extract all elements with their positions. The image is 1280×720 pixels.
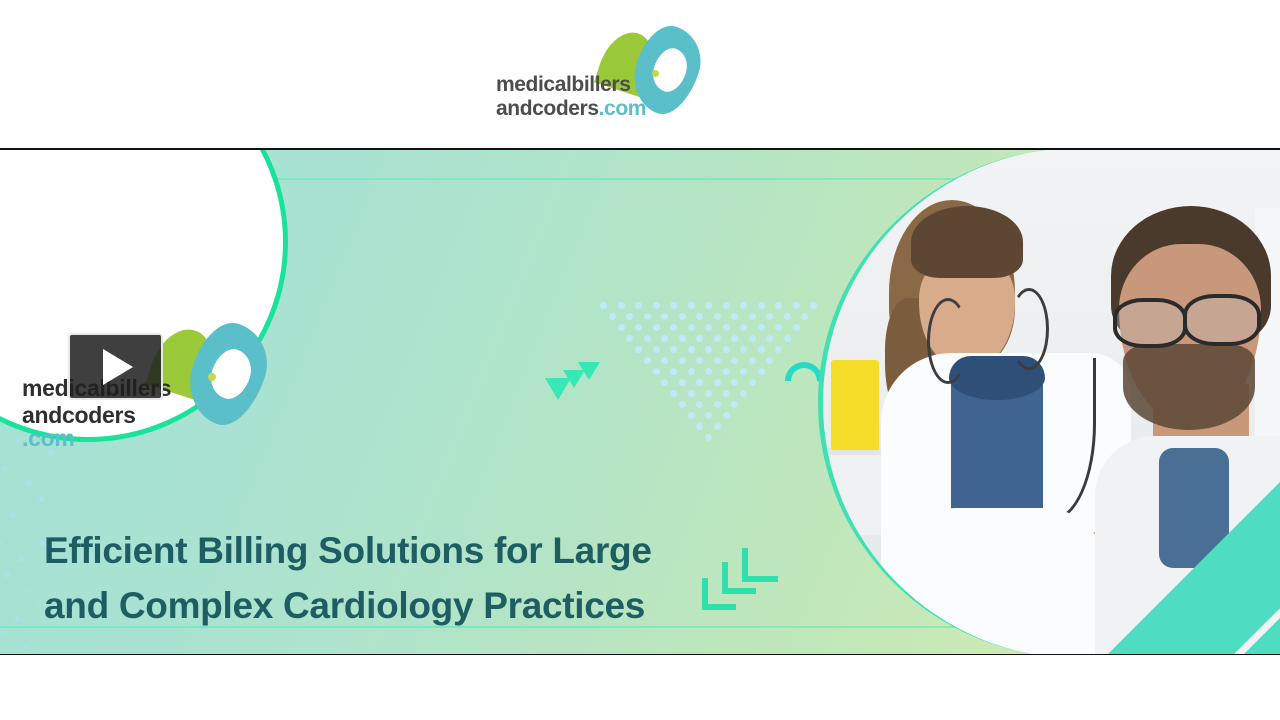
banner-logo-line-2-dark: andcoders	[22, 404, 197, 427]
decor-dot	[2, 466, 8, 472]
decor-dot	[618, 302, 625, 309]
photo-patient-inner	[1159, 448, 1229, 568]
decor-dot	[758, 324, 765, 331]
banner-logo-line-2: andcoders.com	[22, 404, 197, 450]
photo-doctor-sleeve	[915, 508, 1105, 655]
decor-dot	[766, 357, 773, 364]
decor-dot	[0, 540, 2, 546]
logo-line-2-dark: andcoders	[496, 97, 599, 120]
video-play-button[interactable]	[68, 333, 163, 400]
decor-dot	[723, 390, 730, 397]
decor-dot	[670, 346, 677, 353]
decor-dot	[740, 346, 747, 353]
decor-dot	[705, 412, 712, 419]
decor-dot	[600, 302, 607, 309]
decor-dot	[696, 335, 703, 342]
decor-dot	[775, 346, 782, 353]
decor-dot	[723, 412, 730, 419]
decor-dot	[749, 335, 756, 342]
decor-dot	[731, 357, 738, 364]
headline-line-1: Efficient Billing Solutions for Large	[44, 524, 774, 579]
decor-dot	[670, 368, 677, 375]
decor-dot	[784, 313, 791, 320]
decor-dot	[688, 302, 695, 309]
decor-triangle-3	[578, 362, 600, 380]
decor-dot	[670, 324, 677, 331]
decor-dot	[714, 401, 721, 408]
photo-circle-mask	[818, 150, 1280, 655]
decor-dot	[679, 357, 686, 364]
photo-patient-beard	[1123, 344, 1255, 430]
decor-dot	[705, 324, 712, 331]
hero-banner: medicalbillers andcoders.com Efficient B…	[0, 149, 1280, 655]
decor-dot	[705, 390, 712, 397]
decor-dot	[810, 302, 817, 309]
decor-dot	[688, 390, 695, 397]
decor-dot	[731, 401, 738, 408]
decor-dot	[758, 302, 765, 309]
decor-dot	[626, 335, 633, 342]
decor-dot	[661, 379, 668, 386]
decor-dot	[609, 313, 616, 320]
decor-dot	[740, 368, 747, 375]
decor-dot	[626, 313, 633, 320]
decor-dot	[635, 302, 642, 309]
hero-headline: Efficient Billing Solutions for Large an…	[44, 524, 774, 634]
decor-dot	[688, 412, 695, 419]
decor-dot	[635, 324, 642, 331]
logo-line-1: medicalbillers	[496, 74, 646, 95]
logo-line-2-accent: .com	[599, 97, 646, 120]
decor-dot	[688, 324, 695, 331]
decor-dot	[696, 357, 703, 364]
photo-stethoscope-left	[927, 298, 969, 384]
decor-dot	[38, 496, 44, 502]
decor-dot	[688, 346, 695, 353]
decor-dot	[714, 335, 721, 342]
decor-dot	[793, 302, 800, 309]
decor-dot	[653, 368, 660, 375]
logo-wordmark: medicalbillers andcoders.com	[496, 74, 646, 119]
decor-dot	[696, 313, 703, 320]
decor-dot	[775, 302, 782, 309]
decor-dot	[688, 368, 695, 375]
decor-dot	[18, 556, 24, 562]
decor-dot	[731, 335, 738, 342]
photo-doctor-fringe	[911, 206, 1023, 278]
decor-dot	[644, 335, 651, 342]
decor-dot	[661, 313, 668, 320]
decor-dot	[723, 368, 730, 375]
decor-dot	[4, 572, 10, 578]
decor-dot	[679, 401, 686, 408]
decor-dot	[705, 368, 712, 375]
decor-dot	[740, 324, 747, 331]
decor-dot	[714, 379, 721, 386]
decor-dot	[22, 644, 28, 650]
decor-dot	[679, 379, 686, 386]
decor-dot	[653, 346, 660, 353]
decor-dot	[696, 401, 703, 408]
decor-dot	[10, 512, 16, 518]
headline-line-2: and Complex Cardiology Practices	[44, 579, 774, 634]
decor-dot	[766, 313, 773, 320]
banner-logo-line-2-accent: .com	[22, 427, 197, 450]
page-bottom-area	[0, 656, 1280, 720]
decor-dot	[679, 313, 686, 320]
decor-dot	[793, 324, 800, 331]
photo-yellow-bin	[831, 360, 879, 450]
decor-dot	[0, 630, 6, 636]
decor-dot	[758, 346, 765, 353]
decor-dot	[705, 346, 712, 353]
decor-dot	[696, 379, 703, 386]
decor-dot	[801, 313, 808, 320]
decor-dot	[644, 357, 651, 364]
decor-dot	[26, 588, 32, 594]
decor-dot	[731, 313, 738, 320]
decor-dot	[766, 335, 773, 342]
decor-dot	[705, 434, 712, 441]
decor-dot	[670, 302, 677, 309]
decor-dot	[740, 302, 747, 309]
decor-dot	[635, 346, 642, 353]
play-icon	[103, 349, 133, 385]
hero-photo	[818, 150, 1280, 655]
decor-dot	[644, 313, 651, 320]
photo-patient-glasses-left	[1113, 298, 1187, 348]
decor-dot	[36, 600, 42, 606]
decor-dot	[653, 324, 660, 331]
decor-dot	[26, 480, 32, 486]
decor-dot	[723, 346, 730, 353]
decor-dot	[679, 335, 686, 342]
decor-dot	[618, 324, 625, 331]
logo-line-2: andcoders.com	[496, 98, 646, 119]
decor-dot	[714, 423, 721, 430]
site-logo[interactable]: medicalbillers andcoders.com	[496, 26, 696, 122]
decor-dot	[723, 324, 730, 331]
decor-dot	[670, 390, 677, 397]
decor-dot	[661, 357, 668, 364]
decor-dot	[705, 302, 712, 309]
photo-patient-glasses-right	[1183, 294, 1261, 346]
decor-dot	[714, 313, 721, 320]
decor-dot	[661, 335, 668, 342]
decor-dot	[749, 357, 756, 364]
decor-dot	[740, 390, 747, 397]
decor-dot	[749, 379, 756, 386]
decor-dot	[653, 302, 660, 309]
decor-dot	[14, 616, 20, 622]
decor-dot	[775, 324, 782, 331]
top-logo-bar: medicalbillers andcoders.com	[0, 0, 1280, 149]
decor-dot	[749, 313, 756, 320]
decor-dot	[758, 368, 765, 375]
decor-dot	[696, 423, 703, 430]
decor-dot	[731, 379, 738, 386]
decor-dot	[784, 335, 791, 342]
decor-dot	[714, 357, 721, 364]
decor-dot	[723, 302, 730, 309]
